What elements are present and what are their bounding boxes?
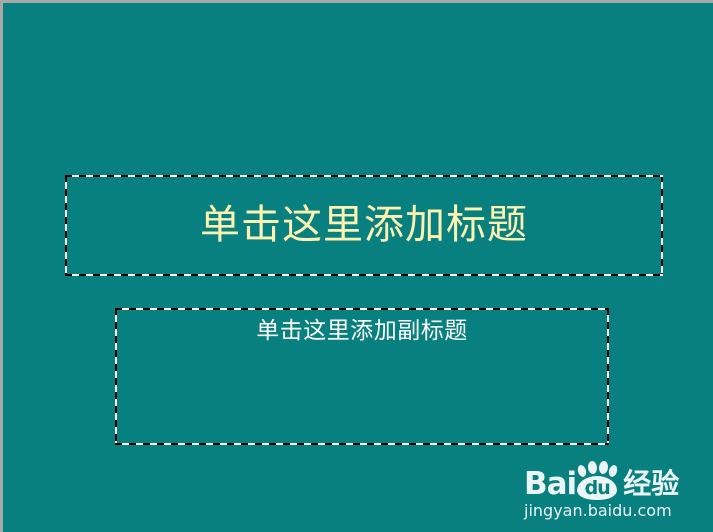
watermark-brand-chinese: 经验 — [623, 469, 679, 499]
watermark-brand-paw-label: du — [577, 476, 617, 500]
slide-surface[interactable]: 单击这里添加标题 单击这里添加副标题 Bai du 经验 — [3, 3, 713, 532]
subtitle-placeholder-text[interactable]: 单击这里添加副标题 — [256, 317, 468, 346]
paw-toe-icon — [588, 461, 598, 475]
title-placeholder[interactable]: 单击这里添加标题 — [65, 175, 663, 276]
watermark-url: jingyan.baidu.com — [524, 501, 699, 520]
paw-toe-icon — [599, 461, 609, 475]
baidu-jingyan-watermark: Bai du 经验 jingyan.baidu.com — [524, 465, 699, 520]
title-placeholder-text[interactable]: 单击这里添加标题 — [200, 202, 528, 249]
presentation-slide-canvas: 单击这里添加标题 单击这里添加副标题 Bai du 经验 — [0, 0, 713, 532]
watermark-logo-row: Bai du 经验 — [524, 465, 699, 499]
paw-main-pad-icon: du — [577, 476, 617, 500]
watermark-brand-latin: Bai — [524, 469, 576, 499]
baidu-paw-print-icon: du — [575, 461, 619, 501]
subtitle-placeholder[interactable]: 单击这里添加副标题 — [115, 308, 609, 445]
